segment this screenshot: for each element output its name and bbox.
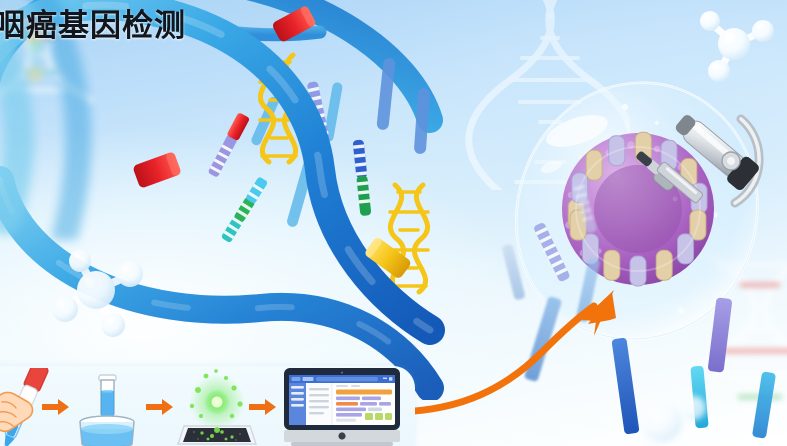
test-tube-beaker-icon [72,372,142,446]
workflow-arrow-icon [146,398,174,421]
sequencing-chip-icon [176,368,258,446]
molecule-icon [688,4,780,84]
results-monitor[interactable] [281,368,403,446]
curved-flow-arrow [380,290,650,430]
gene-bar [690,366,708,429]
workflow-arrow-icon [249,398,277,421]
page-title: 咽癌基因检测 [0,4,186,48]
illustration-canvas: 咽癌基因检测 [0,0,787,446]
gene-bar [752,371,776,438]
workflow-arrow-icon [42,398,70,421]
